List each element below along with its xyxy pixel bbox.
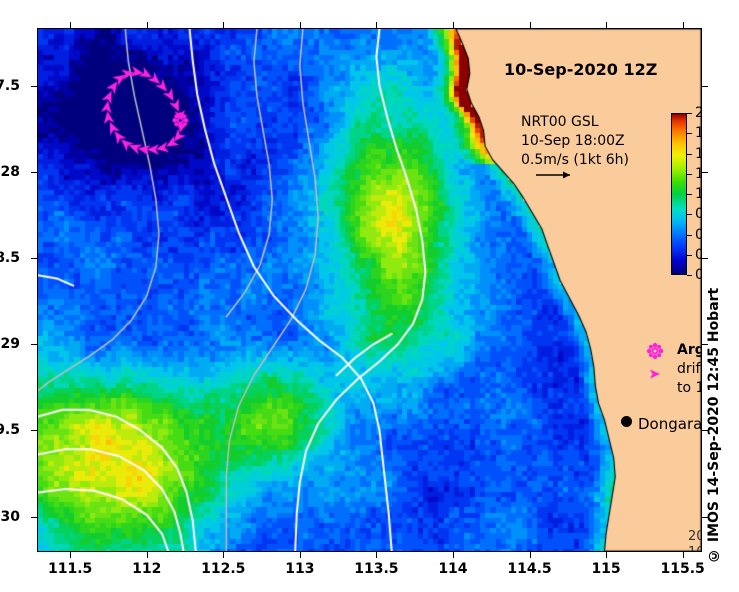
- x-axis-tick: [453, 22, 454, 28]
- x-axis-tick: [683, 552, 684, 558]
- x-axis-tick: [70, 22, 71, 28]
- colorbar-tick-label: 1.75: [695, 125, 702, 141]
- x-axis-tick: [300, 552, 301, 558]
- y-axis-tick: [31, 517, 37, 518]
- x-axis-tick: [606, 552, 607, 558]
- x-axis-tick: [530, 552, 531, 558]
- y-axis-tick: [702, 86, 708, 87]
- x-axis-tick: [147, 552, 148, 558]
- legend-drifters-label-2: to 11/09 12Z: [677, 380, 702, 396]
- y-axis-tick: [31, 344, 37, 345]
- x-axis-tick: [453, 552, 454, 558]
- y-axis-tick: [702, 344, 708, 345]
- map-plot-area[interactable]: 10-Sep-2020 12Z NRT00 GSL 10-Sep 18:00Z …: [37, 28, 702, 552]
- sst-age-map-figure: 10-Sep-2020 12Z NRT00 GSL 10-Sep 18:00Z …: [0, 0, 739, 592]
- colorbar-tick-label: 2: [695, 105, 702, 121]
- depth-200m-label: 200m: [688, 529, 702, 545]
- x-axis-tick: [530, 22, 531, 28]
- map-title-date: 10-Sep-2020 12Z: [504, 60, 657, 79]
- y-axis-tick: [31, 258, 37, 259]
- colorbar-tick-label: 0.5: [695, 227, 702, 243]
- velocity-product-name: NRT00 GSL: [521, 113, 629, 132]
- argo-star-marker-icon: [646, 342, 664, 360]
- x-axis-tick-label: 114.5: [507, 561, 551, 577]
- colorbar-tick: [687, 255, 692, 256]
- x-axis-tick: [376, 552, 377, 558]
- colorbar-gradient: [671, 113, 687, 275]
- y-axis-tick: [702, 517, 708, 518]
- x-axis-tick-label: 115: [591, 561, 620, 577]
- colorbar-tick: [687, 174, 692, 175]
- colorbar-tick-label: 1.25: [695, 166, 702, 182]
- sst-age-raster-canvas[interactable]: [38, 29, 701, 551]
- x-axis-tick-label: 111.5: [48, 561, 92, 577]
- y-axis-tick-label: -27.5: [0, 78, 20, 94]
- y-axis-tick: [31, 172, 37, 173]
- x-axis-tick-label: 113.5: [354, 561, 398, 577]
- x-axis-tick-label: 112.5: [201, 561, 245, 577]
- y-axis-tick-label: -29: [0, 336, 20, 352]
- copyright-notice: © IMOS 14-Sep-2020 12:45 Hobart: [706, 300, 728, 550]
- y-axis-tick-label: -28: [0, 164, 20, 180]
- x-axis-tick: [376, 22, 377, 28]
- colorbar-tick: [687, 133, 692, 134]
- velocity-reference-arrow-icon: [536, 169, 578, 181]
- y-axis-tick-label: -30: [0, 509, 20, 525]
- colorbar-tick: [687, 154, 692, 155]
- colorbar-tick: [687, 275, 692, 276]
- velocity-timestamp: 10-Sep 18:00Z: [521, 132, 629, 151]
- y-axis-tick: [702, 258, 708, 259]
- x-axis-tick: [300, 22, 301, 28]
- velocity-scale-label: 0.5m/s (1kt 6h): [521, 151, 629, 170]
- velocity-product-block: NRT00 GSL 10-Sep 18:00Z 0.5m/s (1kt 6h): [521, 113, 629, 170]
- colorbar-tick: [687, 214, 692, 215]
- depth-1000m-label: 1000m: [688, 545, 702, 552]
- x-axis-tick-label: 115.5: [660, 561, 704, 577]
- x-axis-tick: [147, 22, 148, 28]
- y-axis-tick-label: -29.5: [0, 422, 20, 438]
- colorbar-tick-label: 1: [695, 186, 702, 202]
- y-axis-tick-label: -28.5: [0, 250, 20, 266]
- x-axis-tick: [223, 22, 224, 28]
- colorbar-tick: [687, 235, 692, 236]
- y-axis-tick: [702, 430, 708, 431]
- dongara-place-label: Dongara: [638, 415, 702, 433]
- colorbar-tick-label: 0: [695, 267, 702, 283]
- y-axis-tick: [31, 86, 37, 87]
- bathymetry-depth-legend: 200m 1000m: [688, 529, 702, 552]
- colorbar-tick: [687, 113, 692, 114]
- y-axis-tick: [31, 430, 37, 431]
- legend-drifters-label-1: drifters@6h: [677, 361, 702, 377]
- colorbar-tick: [687, 194, 692, 195]
- legend-argo-label: Argo: [677, 342, 702, 358]
- x-axis-tick: [606, 22, 607, 28]
- x-axis-tick-label: 114: [438, 561, 467, 577]
- colorbar-tick-label: 0.25: [695, 247, 702, 263]
- colorbar-tick-label: 1.5: [695, 146, 702, 162]
- colorbar-tick-label: 0.75: [695, 206, 702, 222]
- y-axis-tick: [702, 172, 708, 173]
- drifter-arrow-marker-icon: [646, 365, 664, 383]
- x-axis-tick: [70, 552, 71, 558]
- dongara-place-dot-icon: [621, 416, 632, 427]
- x-axis-tick: [683, 22, 684, 28]
- x-axis-tick-label: 112: [132, 561, 161, 577]
- x-axis-tick-label: 113: [285, 561, 314, 577]
- x-axis-tick: [223, 552, 224, 558]
